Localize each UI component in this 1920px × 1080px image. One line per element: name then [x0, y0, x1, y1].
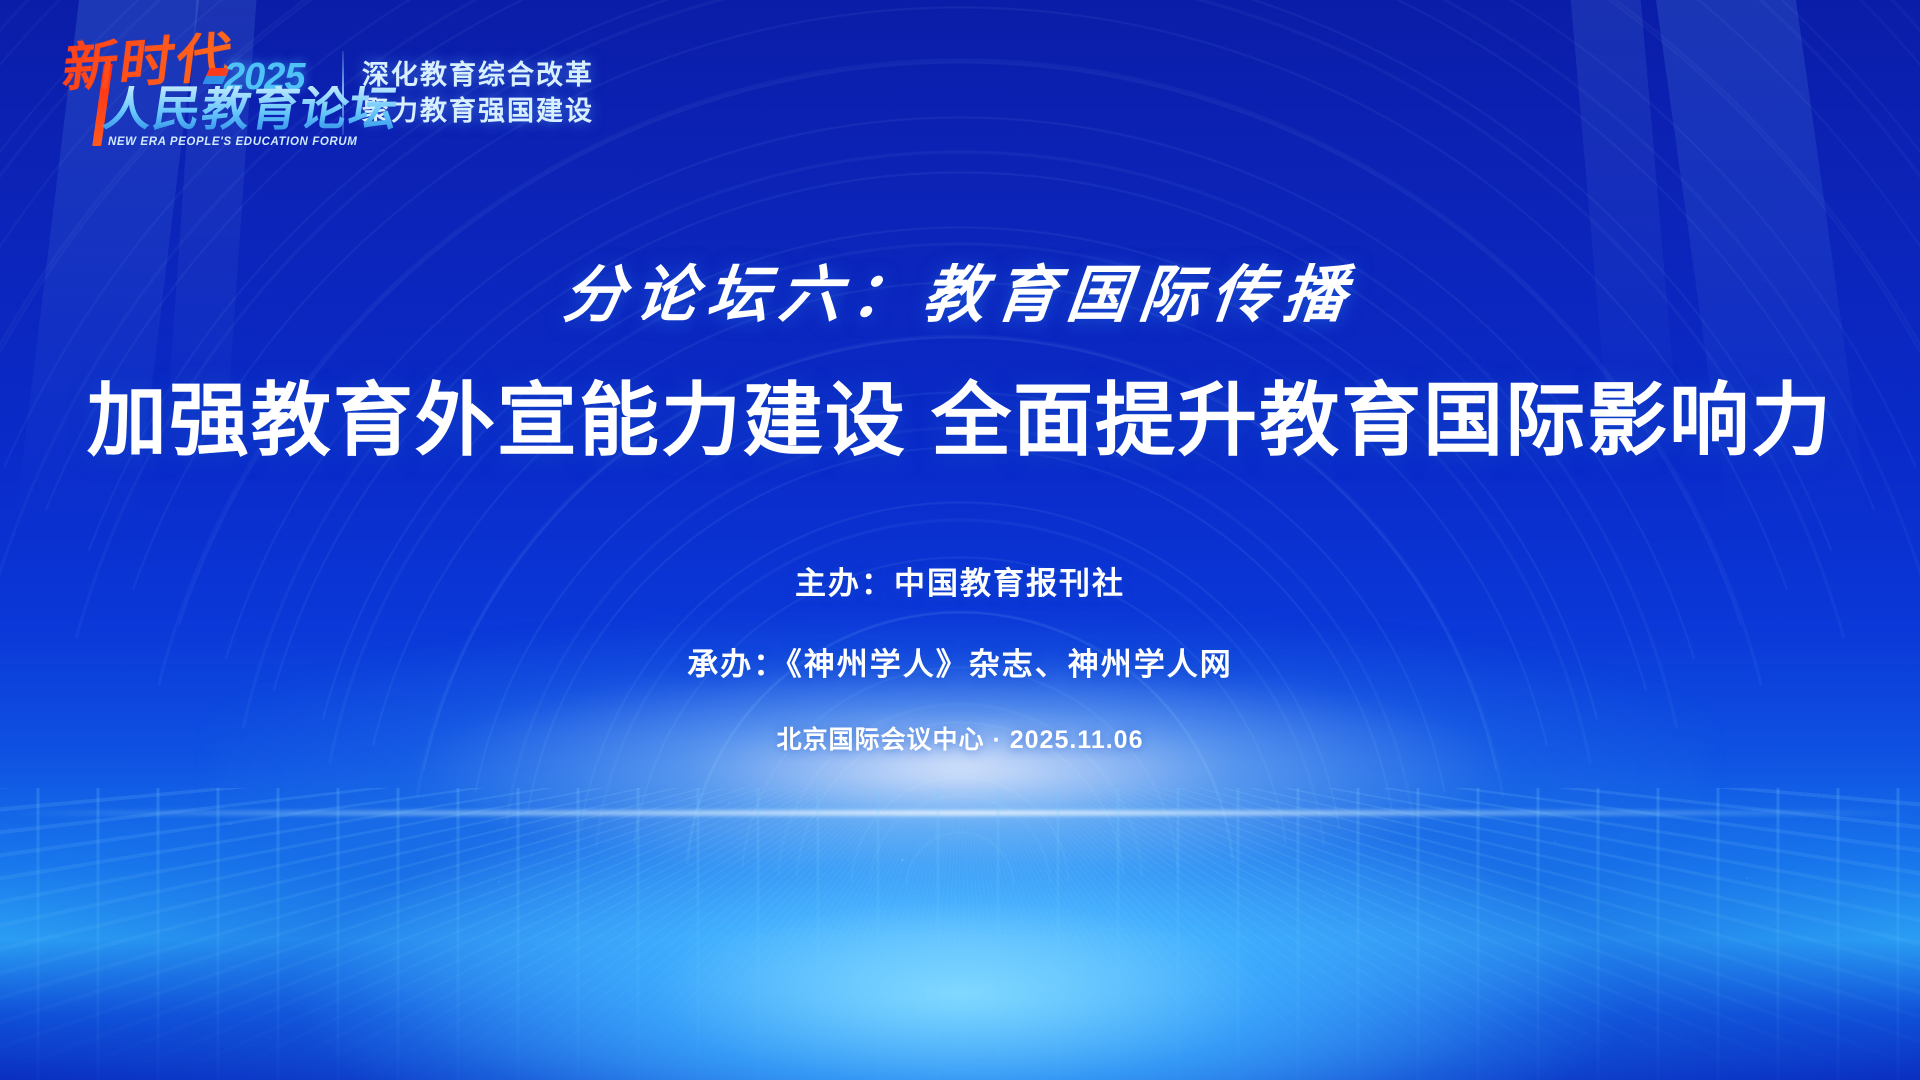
session-title: 分论坛六：教育国际传播 — [0, 244, 1920, 334]
host-line: 主办：中国教育报刊社 — [795, 558, 1125, 603]
perspective-floor-decoration — [0, 788, 1920, 1080]
page-title: 加强教育外宣能力建设 全面提升教育国际影响力 — [0, 376, 1920, 466]
logo-forum-name-text: 人民教育论坛 — [100, 86, 402, 134]
venue-date-line: 北京国际会议中心 · 2025.11.06 — [777, 720, 1144, 756]
forum-logo-lockup: 新时代 2025 人民教育论坛 NEW ERA PEOPLE'S EDUCATI… — [56, 34, 594, 152]
horizon-line-decoration — [0, 811, 1920, 815]
sparkle-decoration — [0, 770, 1920, 950]
event-backdrop-stage: 新时代 2025 人民教育论坛 NEW ERA PEOPLE'S EDUCATI… — [0, 0, 1920, 1080]
floor-grid-decoration — [0, 788, 1920, 1080]
logo-english-name-text: NEW ERA PEOPLE'S EDUCATION FORUM — [108, 136, 357, 148]
event-meta-block: 主办：中国教育报刊社 承办：《神州学人》杂志、神州学人网 北京国际会议中心 · … — [0, 558, 1920, 756]
organizer-line: 承办：《神州学人》杂志、神州学人网 — [687, 639, 1233, 684]
forum-logo-mark: 新时代 2025 人民教育论坛 NEW ERA PEOPLE'S EDUCATI… — [56, 34, 324, 152]
floor-ray-decoration — [0, 788, 1920, 1080]
